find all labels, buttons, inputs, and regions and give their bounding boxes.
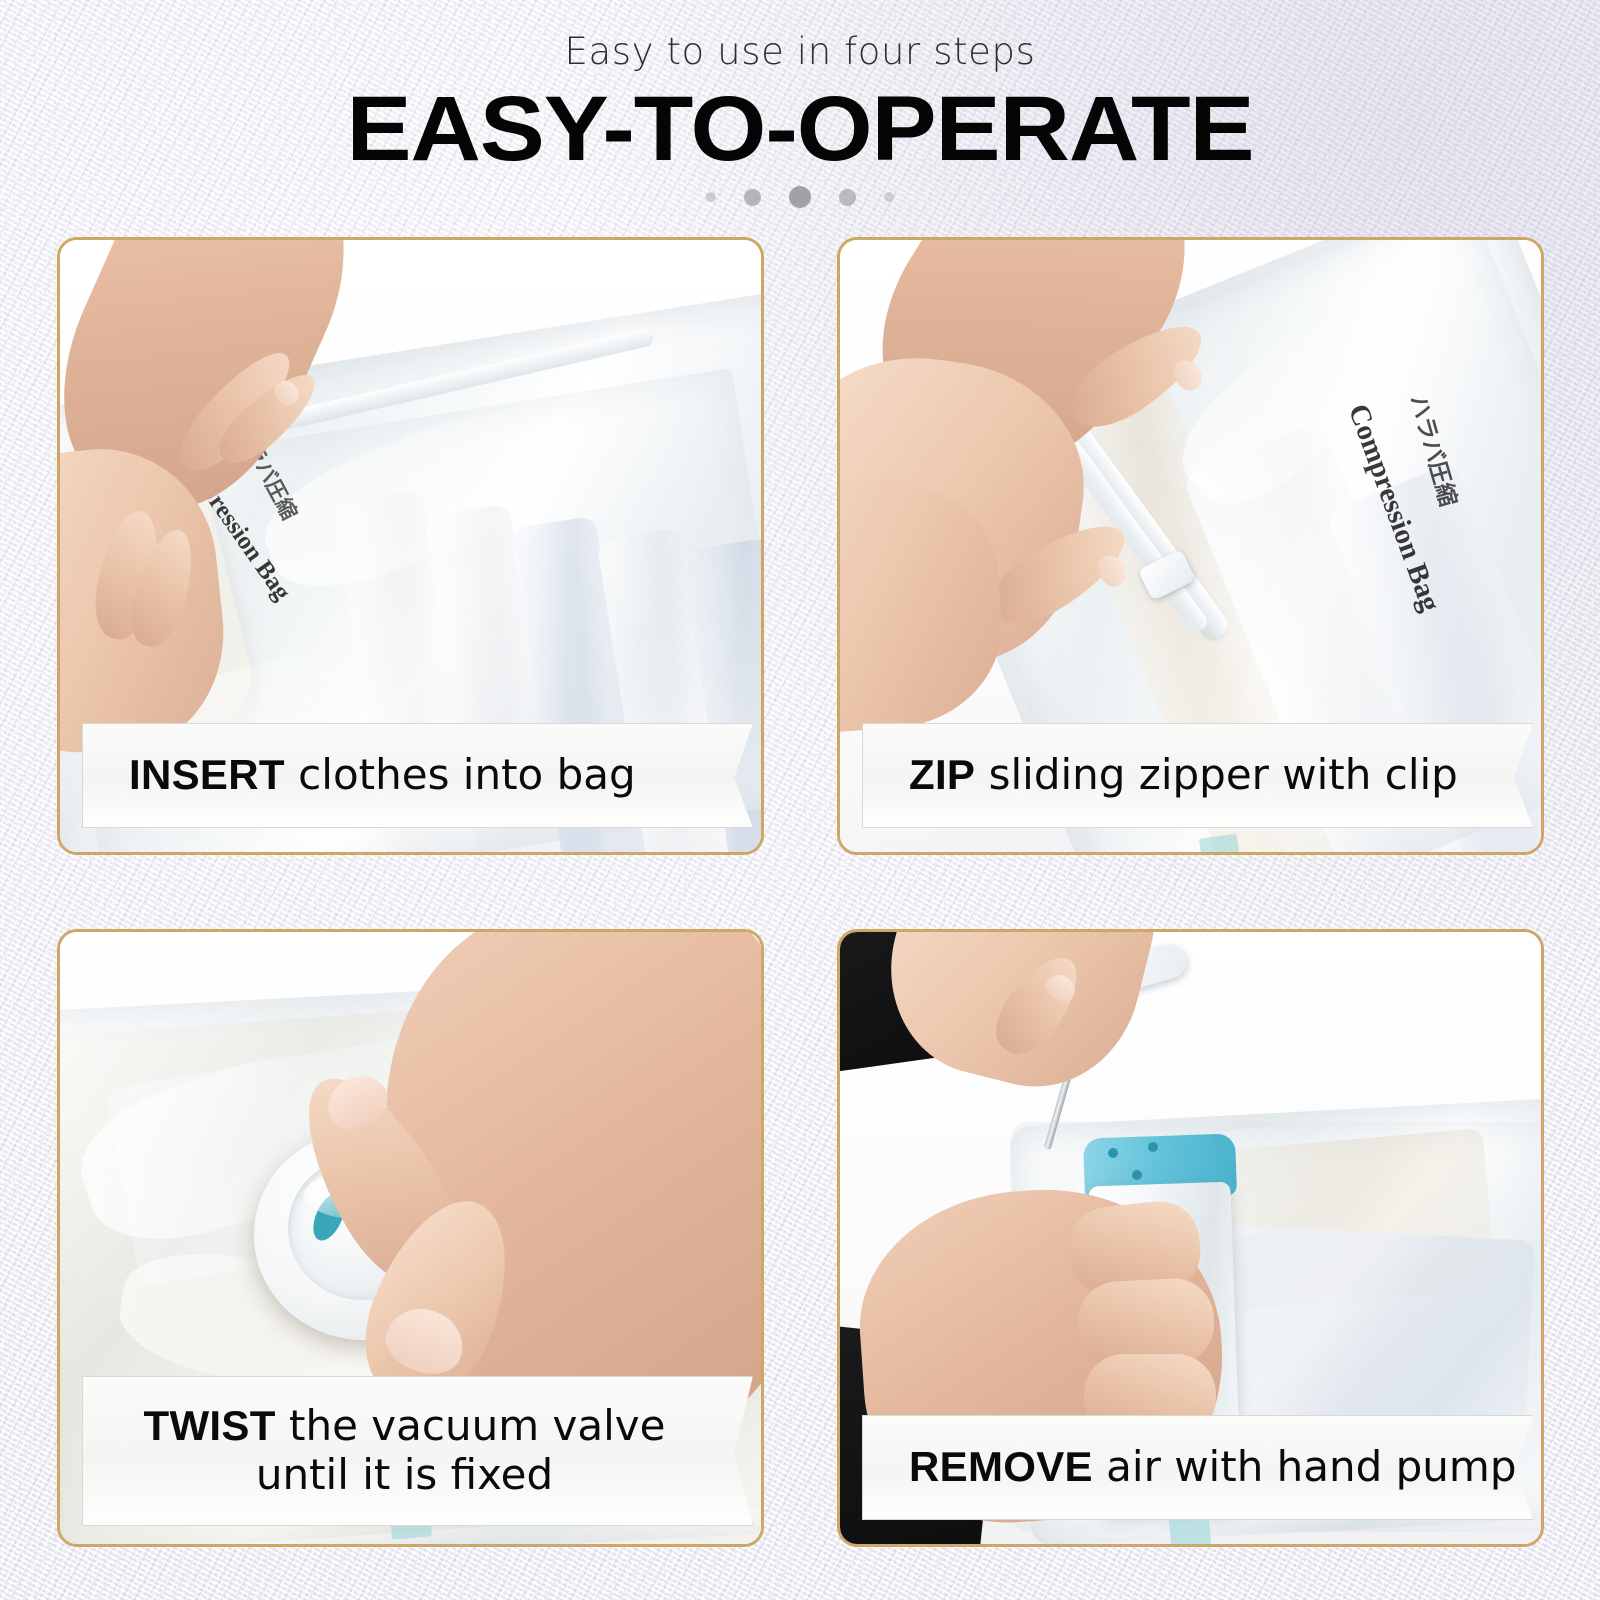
step-dot-2: [744, 189, 761, 206]
step-dot-5: [884, 192, 894, 202]
step-card-twist[interactable]: TWIST the vacuum valve until it is fixed: [57, 929, 764, 1547]
step-dot-1: [706, 192, 716, 202]
subtitle: Easy to use in four steps: [0, 30, 1600, 73]
step-dot-indicator: [0, 186, 1600, 208]
step-keyword: REMOVE: [909, 1443, 1093, 1490]
step-text: air with hand pump: [1093, 1442, 1517, 1491]
step-keyword: ZIP: [909, 751, 975, 798]
step-dot-4: [839, 189, 856, 206]
step-text: the vacuum valve: [276, 1401, 666, 1450]
step-keyword: INSERT: [129, 751, 285, 798]
steps-grid: Compression Bag ハラバ圧縮: [57, 237, 1544, 1547]
step-caption-remove: REMOVE air with hand pump: [862, 1415, 1533, 1520]
page-title: EASY-TO-OPERATE: [0, 77, 1600, 182]
step-caption-zip: ZIP sliding zipper with clip: [862, 723, 1533, 828]
step-dot-3: [789, 186, 811, 208]
step-caption-insert: INSERT clothes into bag: [82, 723, 753, 828]
header: Easy to use in four steps EASY-TO-OPERAT…: [0, 0, 1600, 225]
step-text-line2: until it is fixed: [256, 1450, 553, 1499]
step-text: clothes into bag: [285, 750, 636, 799]
step-text: sliding zipper with clip: [975, 750, 1458, 799]
infographic-page: Easy to use in four steps EASY-TO-OPERAT…: [0, 0, 1600, 1600]
step-keyword: TWIST: [144, 1402, 276, 1449]
step-caption-twist: TWIST the vacuum valve until it is fixed: [82, 1376, 753, 1526]
step-card-remove[interactable]: REMOVE air with hand pump: [837, 929, 1544, 1547]
step-card-zip[interactable]: Compression Bag ハラバ圧縮 ZIP sliding zipper…: [837, 237, 1544, 855]
step-card-insert[interactable]: Compression Bag ハラバ圧縮: [57, 237, 764, 855]
